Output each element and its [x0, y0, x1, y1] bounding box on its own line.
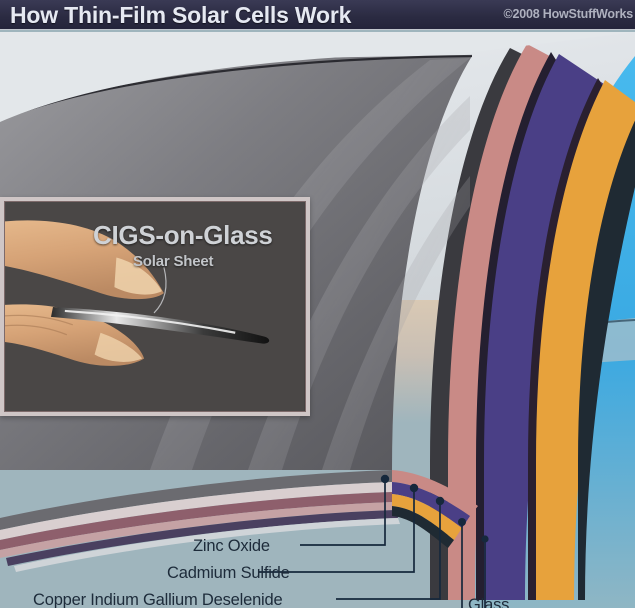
copyright-notice: ©2008 HowStuffWorks [503, 7, 633, 21]
callout-label-glass: Glass [468, 596, 509, 608]
bottom-layer-strips [0, 470, 400, 572]
callout-label-cigs: Copper Indium Gallium Deselenide [33, 591, 282, 608]
callout-label-cadmium-sulfide: Cadmium Sulfide [167, 564, 290, 583]
infographic-canvas: How Thin-Film Solar Cells Work ©2008 How… [0, 0, 635, 608]
inset-title: CIGS-on-Glass [93, 220, 273, 251]
inset-image-area: CIGS-on-Glass Solar Sheet [4, 201, 306, 412]
title-bar: How Thin-Film Solar Cells Work ©2008 How… [0, 0, 635, 30]
page-title: How Thin-Film Solar Cells Work [10, 0, 351, 30]
inset-subtitle: Solar Sheet [133, 253, 213, 270]
cigs-on-glass-inset: CIGS-on-Glass Solar Sheet [0, 197, 310, 416]
callout-label-zinc-oxide: Zinc Oxide [193, 537, 270, 556]
